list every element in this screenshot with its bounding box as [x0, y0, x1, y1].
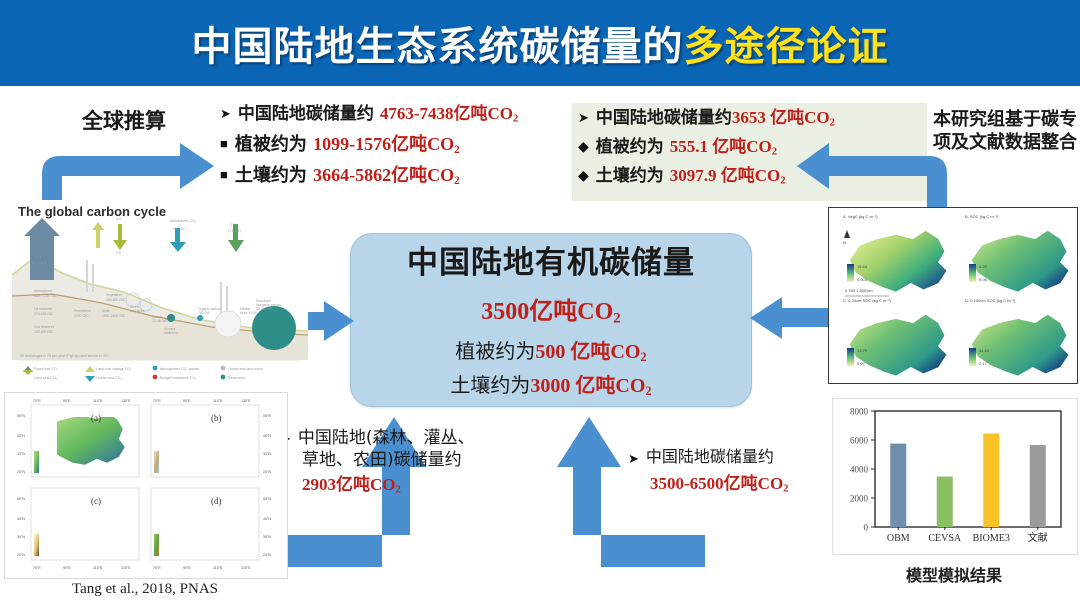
- list-item-text: 植被约为 555.1 亿吨CO2: [596, 137, 777, 159]
- list-item-value: 555.1 亿吨CO: [670, 137, 772, 156]
- svg-text:70°E: 70°E: [153, 566, 161, 570]
- right-map-title-b: B. SOC (kg C m⁻²): [965, 214, 999, 219]
- arrow-bullet-icon: [628, 448, 639, 469]
- svg-text:90°E: 90°E: [63, 399, 71, 403]
- svg-text:860 / 1750 GtC: 860 / 1750 GtC: [34, 294, 58, 298]
- svg-text:N: N: [843, 240, 846, 245]
- svg-text:1500-2400 GtC: 1500-2400 GtC: [102, 314, 126, 318]
- x-tick-label: BIOME3: [973, 533, 1010, 544]
- list-item: 土壤约为 3664-5862亿吨CO2: [220, 165, 575, 188]
- bar: [983, 433, 999, 527]
- bottom-left-line1: 中国陆地(森林、灌丛、: [298, 428, 475, 448]
- svg-text:90°E: 90°E: [63, 566, 71, 570]
- figure-citation: Tang et al., 2018, PNAS: [4, 581, 286, 598]
- bottom-left-value-wrap: 2903亿吨CO2: [302, 474, 495, 498]
- china-maps-right: A. VegC (kg C m⁻²) B. SOC (kg C m⁻²) C. …: [829, 208, 1077, 383]
- svg-text:30°N: 30°N: [263, 535, 271, 539]
- svg-text:70°E: 70°E: [33, 399, 41, 403]
- svg-text:70°E: 70°E: [33, 566, 41, 570]
- svg-text:9.4: 9.4: [36, 255, 41, 259]
- list-item-label: 植被约为: [596, 137, 670, 157]
- central-soil: 土壤约为3000 亿吨CO2: [450, 369, 651, 399]
- china-maps-4panel: (a) (b) (c) (d) 70°E90°E110°E130°E 70°E9…: [5, 393, 287, 578]
- right-map-title-c: C. 0-20cm SOC (kg C m⁻²): [843, 298, 892, 303]
- svg-text:50°N: 50°N: [263, 497, 271, 501]
- y-tick-label: 2000: [850, 494, 869, 504]
- svg-text:44.64: 44.64: [979, 348, 990, 353]
- y-tick-label: 4000: [850, 465, 869, 475]
- svg-text:0.003: 0.003: [857, 277, 868, 282]
- subscript: 2: [645, 384, 651, 398]
- page-title-white: 中国陆地生态系统碳储量的: [192, 24, 684, 70]
- svg-text:Gas reserves: Gas reserves: [34, 325, 54, 329]
- svg-text:2.5: 2.5: [116, 251, 121, 255]
- list-item-value: 4763-7438亿吨CO: [380, 104, 513, 123]
- svg-text:Land-use change CO₂: Land-use change CO₂: [96, 367, 132, 371]
- svg-text:130°E: 130°E: [241, 399, 251, 403]
- svg-text:All exchanges in Gt per year (: All exchanges in Gt per year (PgC/yr) an…: [20, 354, 109, 358]
- svg-text:Ocean and land sinks: Ocean and land sinks: [228, 367, 263, 371]
- subscript: 2: [454, 144, 460, 156]
- svg-text:+4.7 GtC: +4.7 GtC: [172, 227, 186, 231]
- svg-text:180-400 GtC: 180-400 GtC: [34, 330, 54, 334]
- svg-text:40°N: 40°N: [17, 517, 25, 521]
- central-vegetation: 植被约为500 亿吨CO2: [455, 335, 646, 365]
- subscript: 2: [640, 350, 646, 364]
- list-item-text: 土壤约为 3664-5862亿吨CO2: [235, 165, 460, 188]
- svg-text:0 750 1,500 km: 0 750 1,500 km: [845, 288, 873, 293]
- page-title: 中国陆地生态系统碳储量的多途径论证: [192, 14, 889, 72]
- svg-text:50°N: 50°N: [17, 414, 25, 418]
- list-item: 中国陆地碳储量约 4763-7438亿吨CO2: [220, 104, 575, 126]
- central-total: 3500亿吨CO2: [481, 291, 620, 328]
- bottom-left-value: 2903亿吨CO: [302, 475, 396, 494]
- svg-text:170-265 GtC: 170-265 GtC: [34, 312, 54, 316]
- svg-text:Budget imbalance CO₂: Budget imbalance CO₂: [160, 376, 197, 380]
- svg-text:1700 GtC: 1700 GtC: [74, 314, 89, 318]
- svg-text:Atmospheric CO₂ growth: Atmospheric CO₂ growth: [160, 367, 200, 371]
- square-bullet-icon: [220, 134, 228, 154]
- svg-text:Atmospheric CO₂: Atmospheric CO₂: [170, 219, 197, 223]
- list-item-label: 植被约为: [235, 134, 313, 155]
- svg-text:450-650 GtC: 450-650 GtC: [106, 298, 126, 302]
- x-tick-label: CEVSA: [928, 533, 962, 544]
- chart-caption: 模型模拟结果: [832, 562, 1076, 586]
- svg-text:(0.7-10.0): (0.7-10.0): [32, 261, 47, 265]
- diamond-bullet-icon: [578, 166, 589, 186]
- svg-text:20°N: 20°N: [17, 553, 25, 557]
- y-tick-label: 6000: [850, 436, 869, 446]
- central-soil-label: 土壤约为: [450, 373, 530, 397]
- subscript: 2: [396, 485, 401, 496]
- svg-text:50°N: 50°N: [263, 414, 271, 418]
- carbon-cycle-diagram: Atmosphere860 / 1750 GtC Oil reserves170…: [12, 200, 308, 383]
- central-heading: 中国陆地有机碳储量: [407, 237, 695, 282]
- list-item: 中国陆地碳储量约3653 亿吨CO2: [578, 108, 928, 130]
- svg-text:Atmosphere: Atmosphere: [34, 289, 52, 293]
- svg-text:Reservoirs: Reservoirs: [228, 376, 245, 380]
- bar: [890, 444, 906, 527]
- global-carbon-cycle-title: The global carbon cycle: [18, 204, 166, 219]
- list-item-value: 3097.9 亿吨CO: [670, 166, 781, 185]
- svg-text:90°E: 90°E: [183, 399, 191, 403]
- svg-text:and lakes: and lakes: [130, 309, 145, 313]
- svg-text:110°E: 110°E: [93, 566, 103, 570]
- top-left-list: 中国陆地碳储量约 4763-7438亿吨CO2 植被约为 1099-1576亿吨…: [220, 104, 575, 196]
- svg-text:110°E: 110°E: [213, 566, 223, 570]
- svg-text:biota 3 GtC: biota 3 GtC: [240, 311, 258, 315]
- list-item: 植被约为 1099-1576亿吨CO2: [220, 134, 575, 157]
- page-title-yellow: 多途径论证: [684, 24, 889, 70]
- y-tick-label: 0: [864, 523, 869, 533]
- svg-text:50°N: 50°N: [17, 497, 25, 501]
- bottom-right-annotation: 中国陆地碳储量约 3500-6500亿吨CO2: [628, 448, 828, 496]
- list-item-text: 植被约为 1099-1576亿吨CO2: [235, 134, 460, 157]
- svg-text:130°E: 130°E: [241, 566, 251, 570]
- svg-text:13.79: 13.79: [857, 348, 868, 353]
- svg-text:90°E: 90°E: [183, 566, 191, 570]
- title-banner-content: 中国陆地生态系统碳储量的多途径论证: [0, 0, 1080, 86]
- list-item-text: 中国陆地碳储量约3653 亿吨CO2: [596, 108, 835, 130]
- bottom-right-value-wrap: 3500-6500亿吨CO2: [650, 473, 828, 497]
- subscript: 2: [513, 114, 518, 125]
- bar-chart: 02000400060008000 OBMCEVSABIOME3文献: [833, 399, 1077, 554]
- list-item: 中国陆地碳储量约: [628, 448, 828, 469]
- svg-text:20°N: 20°N: [17, 470, 25, 474]
- svg-text:6.29: 6.29: [979, 264, 988, 269]
- subscript: 2: [830, 118, 835, 129]
- central-soil-value: 3000 亿吨CO: [530, 375, 645, 397]
- subscript: 2: [783, 483, 788, 494]
- right-map-title-a: A. VegC (kg C m⁻²): [843, 214, 878, 219]
- svg-text:15.44: 15.44: [857, 264, 868, 269]
- y-tick-label: 8000: [850, 407, 869, 417]
- svg-text:70°E: 70°E: [153, 399, 161, 403]
- svg-text:10-45 GtC: 10-45 GtC: [152, 319, 168, 323]
- svg-text:Fossil fuel CO₂: Fossil fuel CO₂: [34, 367, 59, 371]
- tang-2018-map-figure: (a) (b) (c) (d) 70°E90°E110°E130°E 70°E9…: [4, 392, 288, 579]
- bottom-left-annotation: 中国陆地(森林、灌丛、 草地、农田)碳储量约 2903亿吨CO2: [280, 428, 495, 498]
- bottom-left-line2: 草地、农田)碳储量约: [302, 449, 495, 472]
- list-item: 中国陆地(森林、灌丛、: [280, 428, 495, 449]
- svg-text:40°N: 40°N: [263, 517, 271, 521]
- central-summary-box: 中国陆地有机碳储量 3500亿吨CO2 植被约为500 亿吨CO2 土壤约为30…: [350, 233, 752, 407]
- arrow-bullet-icon: [220, 104, 231, 124]
- arrow-left-into-center: [748, 296, 834, 340]
- list-item-label: 土壤约为: [596, 166, 670, 186]
- diamond-bullet-icon: [578, 137, 589, 157]
- svg-text:Ocean sink CO₂: Ocean sink CO₂: [96, 376, 122, 380]
- svg-text:700 GtC: 700 GtC: [198, 311, 211, 315]
- svg-text:(1.8-4.1): (1.8-4.1): [228, 229, 241, 233]
- list-item-label: 土壤约为: [235, 165, 313, 186]
- svg-text:40°N: 40°N: [263, 434, 271, 438]
- bottom-right-value: 3500-6500亿吨CO: [650, 474, 783, 493]
- svg-text:20°N: 20°N: [263, 470, 271, 474]
- map-panel-d: (d): [211, 496, 222, 506]
- list-item-text: 中国陆地碳储量约 4763-7438亿吨CO2: [238, 104, 518, 126]
- svg-text:Land sink CO₂: Land sink CO₂: [34, 376, 58, 380]
- model-simulation-chart: 02000400060008000 OBMCEVSABIOME3文献: [832, 398, 1078, 555]
- right-map-title-d: D. 0-100cm SOC (kg C m⁻²): [965, 298, 1016, 303]
- svg-text:20°N: 20°N: [263, 553, 271, 557]
- subscript: 2: [454, 175, 460, 187]
- svg-text:Soils: Soils: [102, 309, 110, 313]
- svg-text:sediment: sediment: [164, 331, 178, 335]
- map-panel-a: (a): [91, 413, 101, 423]
- list-item-value: 3653 亿吨CO: [732, 108, 830, 127]
- list-item-text: 土壤约为 3097.9 亿吨CO2: [596, 166, 786, 188]
- list-item-label: 中国陆地碳储量约: [596, 108, 732, 128]
- slide-root: 中国陆地生态系统碳储量的多途径论证 全球推算 中国陆地碳储量约 4763-743…: [0, 0, 1080, 608]
- svg-text:30°N: 30°N: [17, 535, 25, 539]
- map-panel-b: (b): [211, 413, 222, 423]
- svg-text:38 000 GtC: 38 000 GtC: [256, 307, 274, 311]
- list-item-label: 中国陆地碳储量约: [238, 104, 380, 124]
- subscript: 2: [613, 311, 620, 327]
- map-panel-c: (c): [91, 496, 101, 506]
- svg-text:0.06: 0.06: [979, 277, 988, 282]
- svg-text:Oil reserves: Oil reserves: [34, 307, 52, 311]
- square-bullet-icon: [220, 165, 228, 185]
- svg-text:130°E: 130°E: [121, 566, 131, 570]
- central-vegetation-value: 500 亿吨CO: [535, 341, 640, 363]
- svg-text:30°N: 30°N: [17, 452, 25, 456]
- bar: [1030, 445, 1046, 527]
- arrow-bullet-icon: [578, 108, 589, 128]
- svg-text:130°E: 130°E: [121, 399, 131, 403]
- list-item-value: 1099-1576亿吨CO: [313, 134, 454, 154]
- svg-text:Vegetation: Vegetation: [106, 293, 122, 297]
- central-vegetation-label: 植被约为: [455, 339, 535, 363]
- bottom-right-line1: 中国陆地碳储量约: [646, 448, 774, 467]
- list-item-value: 3664-5862亿吨CO: [313, 165, 454, 185]
- svg-text:30°N: 30°N: [263, 452, 271, 456]
- x-tick-label: 文献: [1028, 531, 1048, 544]
- svg-text:2.3: 2.3: [230, 223, 235, 227]
- svg-text:110°E: 110°E: [93, 399, 103, 403]
- carbon-density-map-panel: A. VegC (kg C m⁻²) B. SOC (kg C m⁻²) C. …: [828, 207, 1078, 384]
- central-total-value: 3500亿吨CO: [481, 299, 613, 325]
- svg-text:0.07: 0.07: [857, 361, 866, 366]
- bar: [937, 477, 953, 527]
- global-carbon-cycle-figure: The global carbon cycle: [12, 200, 308, 383]
- global-estimate-label: 全球推算: [82, 105, 166, 135]
- svg-text:2.17: 2.17: [979, 361, 988, 366]
- svg-text:110°E: 110°E: [213, 399, 223, 403]
- x-tick-label: OBM: [887, 533, 910, 544]
- subscript: 2: [780, 176, 785, 187]
- svg-text:40°N: 40°N: [17, 434, 25, 438]
- subscript: 2: [772, 147, 777, 158]
- svg-text:Permafrost: Permafrost: [74, 309, 91, 313]
